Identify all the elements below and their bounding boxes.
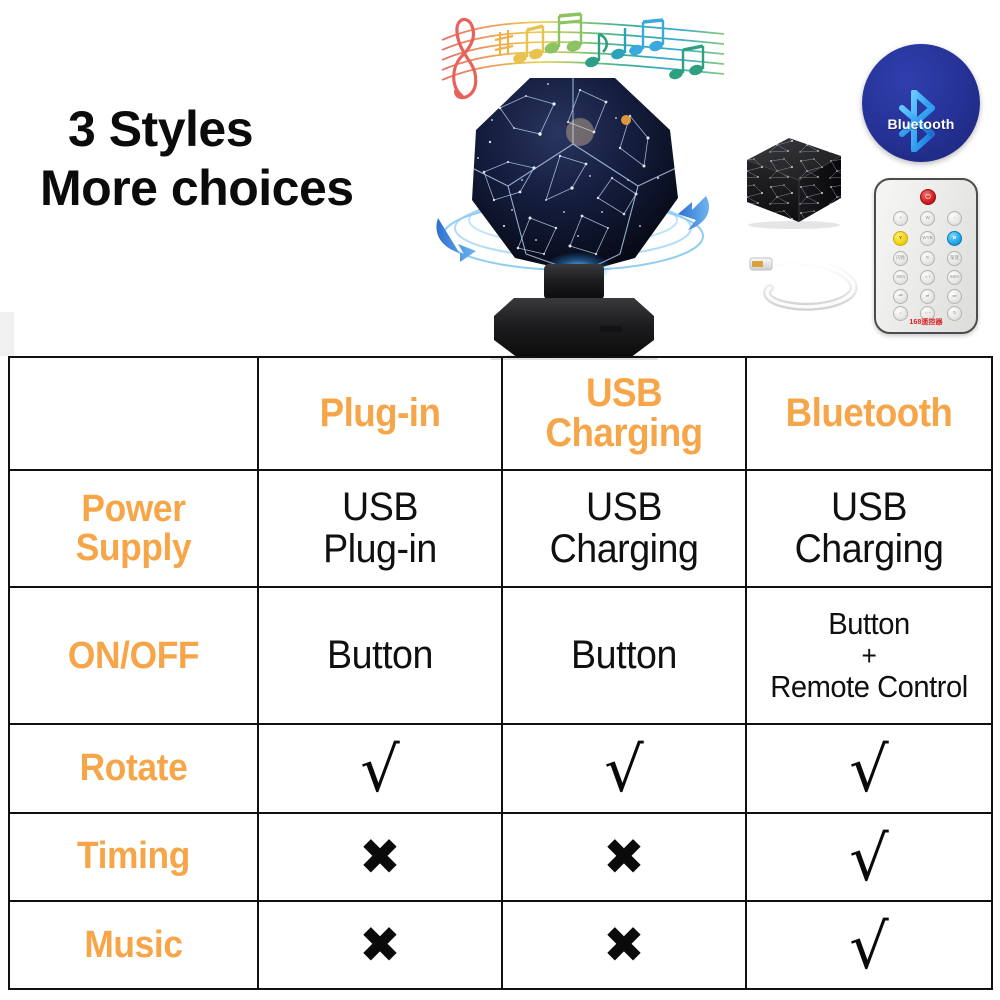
remote-bright-up-button[interactable]: ☼+ [920, 270, 935, 285]
remote-control[interactable]: ⏻ + W − Y WYB B 闪烁 ↻ 渐变 30m ☼+ 60m ⏮ ⏯ ⏭… [874, 178, 978, 334]
value-line-1: Button [828, 606, 909, 641]
cell-timing-plug-in: ✖ [258, 813, 502, 901]
row-header-music: Music [9, 901, 258, 989]
cell-on-off-usb-charging: Button [502, 587, 746, 724]
feature-comparison-table: Plug-in USB Charging Bluetooth Power Sup… [8, 356, 993, 990]
table-corner-cell [9, 357, 258, 470]
usb-charging-line-2: Charging [545, 411, 702, 455]
page-title: 3 Styles More choices [40, 100, 440, 218]
cell-on-off-plug-in-value: Button [270, 635, 490, 677]
remote-timer-30-button[interactable]: 30m [893, 270, 908, 285]
value-line-1: USB [586, 485, 662, 529]
table-header-row: Plug-in USB Charging Bluetooth [9, 357, 992, 470]
star-projector-lamp [430, 68, 715, 360]
column-header-usb-charging-label: USB Charging [516, 373, 731, 453]
cell-timing-usb-charging: ✖ [502, 813, 746, 901]
remote-b-button[interactable]: B [947, 231, 962, 246]
hero-product-banner: 3 Styles More choices [0, 0, 1000, 356]
remote-prev-button[interactable]: ⏮ [893, 289, 908, 304]
cell-power-supply-usb-charging-value: USB Charging [514, 487, 734, 570]
bluetooth-badge: Bluetooth [862, 44, 980, 162]
cell-rotate-plug-in: √ [258, 724, 502, 812]
usb-charging-line-1: USB [586, 371, 662, 415]
power-supply-line-2: Supply [76, 527, 192, 569]
row-header-rotate-label: Rotate [22, 749, 244, 788]
background-band [0, 312, 14, 356]
cell-on-off-usb-charging-value: Button [514, 635, 734, 677]
value-line-2: Plug-in [323, 527, 437, 571]
value-line-2: Charging [550, 527, 699, 571]
remote-rotate-button[interactable]: ↻ [920, 251, 935, 266]
usb-cable [748, 250, 868, 318]
remote-model-label: 168遥控器 [876, 317, 976, 327]
value-line-2: Charging [795, 527, 944, 571]
remote-timer-60-button[interactable]: 60m [947, 270, 962, 285]
check-icon: √ [849, 828, 889, 890]
table-row: ON/OFF Button Button Button + Remote Con… [9, 587, 992, 724]
remote-minus-button[interactable]: − [947, 211, 962, 226]
row-header-on-off-label: ON/OFF [22, 637, 244, 676]
cell-power-supply-plug-in-value: USB Plug-in [270, 487, 490, 570]
table-row: Power Supply USB Plug-in USB Charging US… [9, 470, 992, 587]
constellation-gift-box [737, 130, 847, 230]
headline-line-2: More choices [40, 159, 440, 218]
column-header-plug-in: Plug-in [258, 357, 502, 470]
row-header-timing-label: Timing [22, 837, 244, 876]
cell-power-supply-usb-charging: USB Charging [502, 470, 746, 587]
remote-flash-button[interactable]: 闪烁 [893, 251, 908, 266]
cell-on-off-bluetooth: Button + Remote Control [746, 587, 992, 724]
remote-plus-button[interactable]: + [893, 211, 908, 226]
value-line-1: USB [831, 485, 907, 529]
value-plus: + [758, 642, 980, 670]
value-line-2: Remote Control [758, 670, 980, 705]
remote-play-button[interactable]: ⏯ [920, 289, 935, 304]
cell-music-bluetooth: √ [746, 901, 992, 989]
headline-line-1: 3 Styles [40, 100, 440, 159]
remote-w-button[interactable]: W [920, 211, 935, 226]
cell-on-off-bluetooth-value: Button + Remote Control [758, 607, 980, 704]
row-header-rotate: Rotate [9, 724, 258, 812]
check-icon: √ [360, 739, 400, 801]
cell-on-off-plug-in: Button [258, 587, 502, 724]
row-header-timing: Timing [9, 813, 258, 901]
row-header-on-off: ON/OFF [9, 587, 258, 724]
column-header-bluetooth: Bluetooth [746, 357, 992, 470]
remote-power-button[interactable]: ⏻ [920, 189, 936, 205]
row-header-power-supply-label: Power Supply [22, 490, 244, 568]
bluetooth-badge-label: Bluetooth [862, 116, 980, 132]
check-icon: √ [849, 916, 889, 978]
cross-icon: ✖ [603, 920, 645, 970]
table-row: Rotate √ √ √ [9, 724, 992, 812]
cell-music-usb-charging: ✖ [502, 901, 746, 989]
remote-fade-button[interactable]: 渐变 [947, 251, 962, 266]
cross-icon: ✖ [359, 832, 401, 882]
cross-icon: ✖ [359, 920, 401, 970]
check-icon: √ [604, 739, 644, 801]
row-header-music-label: Music [22, 926, 244, 965]
cell-power-supply-bluetooth: USB Charging [746, 470, 992, 587]
cross-icon: ✖ [603, 832, 645, 882]
column-header-bluetooth-label: Bluetooth [760, 393, 977, 433]
remote-next-button[interactable]: ⏭ [947, 289, 962, 304]
cell-rotate-bluetooth: √ [746, 724, 992, 812]
remote-y-button[interactable]: Y [893, 231, 908, 246]
column-header-usb-charging: USB Charging [502, 357, 746, 470]
row-header-power-supply: Power Supply [9, 470, 258, 587]
cell-rotate-usb-charging: √ [502, 724, 746, 812]
check-icon: √ [849, 739, 889, 801]
cell-music-plug-in: ✖ [258, 901, 502, 989]
table-row: Timing ✖ ✖ √ [9, 813, 992, 901]
cell-power-supply-bluetooth-value: USB Charging [758, 487, 980, 570]
value-line-1: USB [342, 485, 418, 529]
column-header-plug-in-label: Plug-in [272, 393, 487, 433]
table-row: Music ✖ ✖ √ [9, 901, 992, 989]
remote-wyb-button[interactable]: WYB [920, 231, 935, 246]
cell-timing-bluetooth: √ [746, 813, 992, 901]
power-supply-line-1: Power [81, 488, 185, 530]
cell-power-supply-plug-in: USB Plug-in [258, 470, 502, 587]
